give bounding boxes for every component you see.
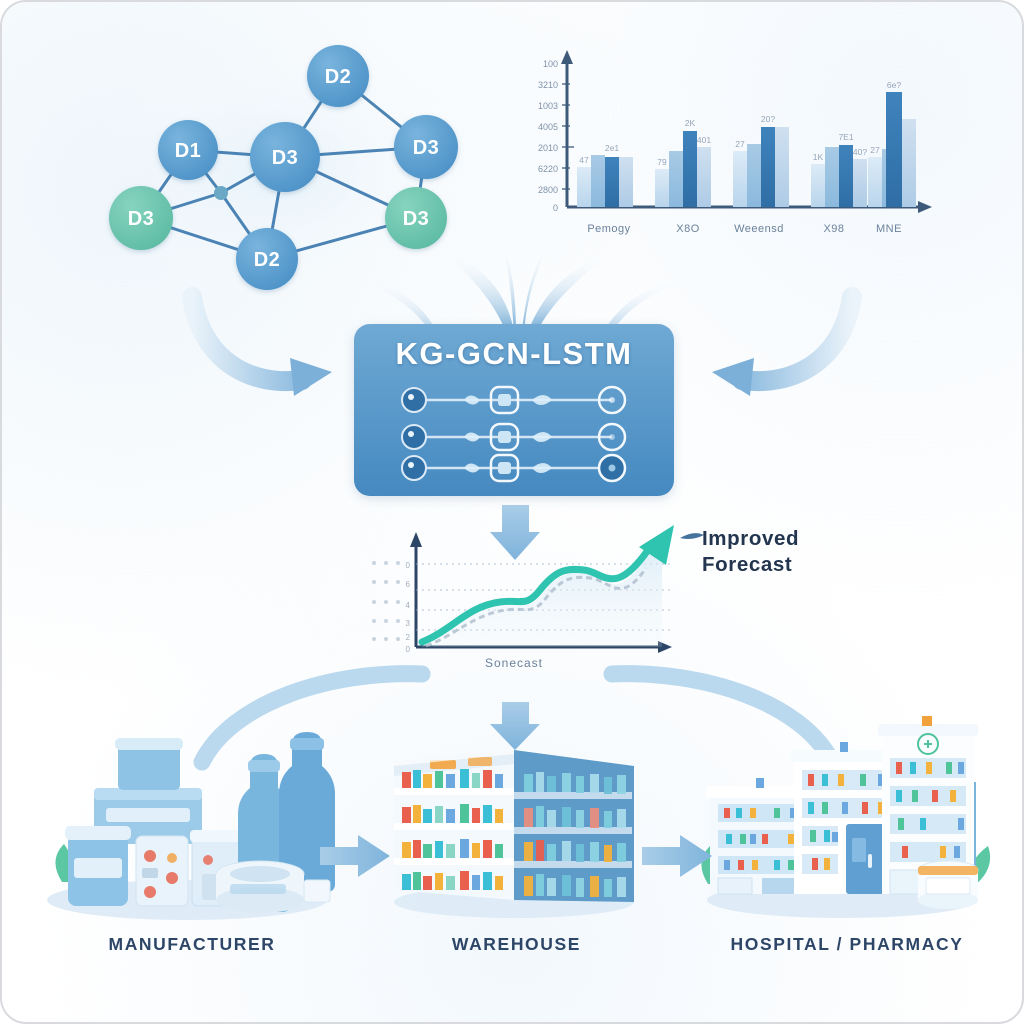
svg-text:4: 4: [406, 601, 411, 610]
knowledge-graph: D1 D3 D2 D3 D3 D2: [72, 37, 492, 307]
graph-node[interactable]: D3: [394, 115, 458, 179]
graph-node-label: D3: [413, 137, 440, 159]
svg-text:4005: 4005: [538, 122, 558, 132]
svg-text:Pemogy: Pemogy: [587, 223, 630, 235]
graph-node-label: D1: [175, 140, 202, 162]
graph-junction-node[interactable]: [214, 186, 228, 200]
supply-arrow-to-hospital[interactable]: [642, 835, 712, 877]
svg-text:0: 0: [553, 203, 558, 213]
graph-node[interactable]: D3: [385, 187, 447, 249]
bar-chart-x-labels: Pemogy X8O Weeensd X98 MNE: [587, 223, 902, 235]
svg-text:MNE: MNE: [876, 223, 902, 235]
forecast-y-ticks: 0 6 4 3 2 0: [406, 561, 411, 654]
svg-text:1K: 1K: [813, 152, 824, 162]
bar-chart: 100 3210 1003 4005 2010 6220 2800 0: [538, 50, 932, 235]
bar-group: 1K 7E1 40?: [811, 132, 867, 207]
svg-text:2K: 2K: [685, 118, 696, 128]
graph-node-label: D2: [254, 249, 281, 271]
bar-chart-y-ticks: 100 3210 1003 4005 2010 6220 2800 0: [538, 59, 574, 213]
curved-arrow-right: [712, 297, 852, 396]
svg-text:1003: 1003: [538, 101, 558, 111]
down-arrow-to-warehouse: [490, 702, 540, 750]
svg-text:0: 0: [406, 561, 411, 570]
graph-node[interactable]: D2: [236, 228, 298, 290]
curved-arrow-left: [192, 297, 332, 396]
model-box[interactable]: [354, 324, 674, 496]
graph-node-label: D3: [128, 208, 155, 230]
svg-text:100: 100: [543, 59, 558, 69]
svg-text:27: 27: [870, 145, 880, 155]
bar-group: 27 20?: [733, 114, 789, 207]
diagram-svg: D1 D3 D2 D3 D3 D2: [2, 2, 1024, 1024]
forecast-xlabel: Sonecast: [485, 656, 543, 670]
svg-text:0: 0: [406, 645, 411, 654]
svg-text:40?: 40?: [853, 147, 867, 157]
graph-node-label: D3: [403, 208, 430, 230]
svg-text:401: 401: [697, 135, 711, 145]
bar-group: 79 2K 401: [655, 118, 711, 207]
svg-text:2800: 2800: [538, 185, 558, 195]
swoosh-marker: [680, 533, 704, 539]
svg-text:6: 6: [406, 580, 411, 589]
graph-node[interactable]: D2: [307, 45, 369, 107]
svg-text:3: 3: [406, 619, 411, 628]
illustration-storage-shelves: [394, 750, 634, 918]
svg-text:Weeensd: Weeensd: [734, 223, 784, 235]
graph-node[interactable]: D3: [109, 186, 173, 250]
svg-text:6e?: 6e?: [887, 80, 901, 90]
curved-arrow-right-bottom: [612, 674, 832, 762]
graph-node[interactable]: D1: [158, 120, 218, 180]
svg-text:47: 47: [579, 155, 589, 165]
bar-group: 27 6e?: [868, 80, 916, 207]
svg-text:2e1: 2e1: [605, 143, 619, 153]
graph-node[interactable]: D3: [250, 122, 320, 192]
diagram-canvas: D1 D3 D2 D3 D3 D2: [0, 0, 1024, 1024]
svg-text:2: 2: [406, 633, 411, 642]
svg-text:2010: 2010: [538, 143, 558, 153]
svg-text:6220: 6220: [538, 164, 558, 174]
svg-text:X8O: X8O: [676, 223, 700, 235]
illustration-hospital-buildings: [701, 716, 990, 918]
down-arrow: [490, 505, 540, 560]
svg-text:79: 79: [657, 157, 667, 167]
svg-text:X98: X98: [823, 223, 844, 235]
bar-group: 47 2e1: [577, 143, 633, 207]
svg-text:20?: 20?: [761, 114, 775, 124]
svg-text:7E1: 7E1: [838, 132, 853, 142]
graph-node-label: D2: [325, 66, 352, 88]
svg-text:3210: 3210: [538, 80, 558, 90]
graph-node-label: D3: [272, 147, 299, 169]
svg-text:27: 27: [735, 139, 745, 149]
